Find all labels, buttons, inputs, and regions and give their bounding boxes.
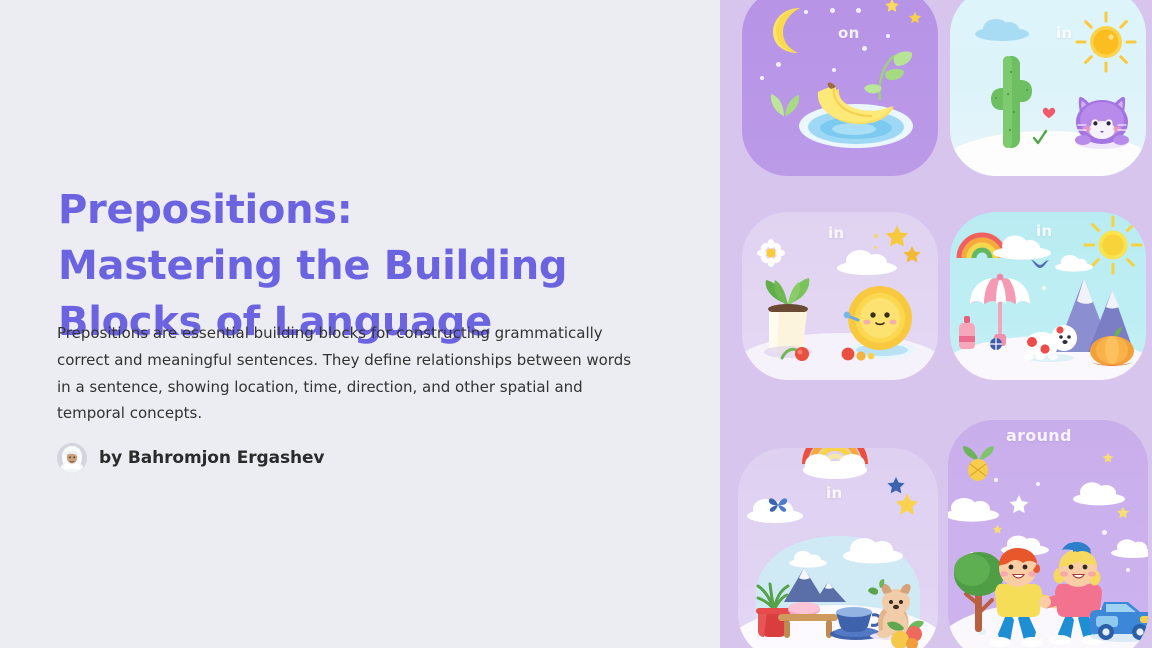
illustration-card-on-night[interactable]: on bbox=[742, 0, 938, 176]
author-name: by Bahromjon Ergashev bbox=[99, 448, 324, 468]
cloud-icon bbox=[836, 248, 898, 276]
star-icon bbox=[1116, 506, 1130, 520]
cloud-icon bbox=[1054, 254, 1094, 272]
preposition-word: around bbox=[1006, 426, 1072, 445]
cat-icon bbox=[1068, 84, 1136, 150]
sparkle-icon bbox=[776, 62, 781, 67]
avatar bbox=[57, 443, 87, 473]
author-byline: by Bahromjon Ergashev bbox=[57, 443, 324, 473]
ball-icon bbox=[990, 338, 1002, 350]
illustration-card-in-beach[interactable]: in bbox=[950, 212, 1146, 380]
illustration-card-in-desert[interactable]: in bbox=[950, 0, 1146, 176]
slide-root: Prepositions: Mastering the Building Blo… bbox=[0, 0, 1152, 648]
title-line-2: Mastering the Building bbox=[58, 238, 688, 294]
sparkle-icon bbox=[832, 68, 836, 72]
sparkle-icon bbox=[804, 10, 808, 14]
sparkle-icon bbox=[874, 234, 878, 238]
sparkle-icon bbox=[856, 8, 861, 13]
pineapple-icon bbox=[962, 444, 996, 482]
bird-icon bbox=[1030, 258, 1050, 269]
star-icon bbox=[1008, 494, 1030, 516]
star-icon bbox=[908, 11, 922, 25]
illustration-card-around[interactable]: around bbox=[948, 420, 1148, 648]
body-paragraph: Prepositions are essential building bloc… bbox=[57, 320, 647, 427]
sparkle-icon bbox=[1042, 286, 1046, 290]
cloud-icon bbox=[948, 496, 1000, 522]
sparkle-icon bbox=[1102, 530, 1107, 535]
sparkle-icon bbox=[886, 34, 890, 38]
sparkle-icon bbox=[830, 8, 835, 13]
check-icon bbox=[1032, 130, 1048, 146]
berry-icon bbox=[840, 344, 880, 362]
sparkle-icon bbox=[1126, 568, 1130, 572]
cloud-icon bbox=[974, 16, 1030, 42]
pumpkin-icon bbox=[1088, 324, 1136, 368]
toy-car-icon bbox=[1088, 588, 1148, 642]
heart-icon bbox=[1042, 106, 1056, 119]
star-icon bbox=[902, 245, 922, 265]
banana-icon bbox=[812, 80, 898, 128]
text-panel: Prepositions: Mastering the Building Blo… bbox=[0, 0, 720, 648]
star-icon bbox=[884, 0, 900, 14]
preposition-word: in bbox=[828, 224, 844, 242]
cloud-icon bbox=[1072, 480, 1126, 506]
bottle-icon bbox=[958, 316, 976, 350]
sparkle-icon bbox=[760, 76, 764, 80]
fruit-icon bbox=[884, 616, 928, 648]
dog-icon bbox=[1022, 320, 1078, 362]
flower-icon bbox=[758, 240, 784, 266]
star-icon bbox=[894, 492, 920, 518]
preposition-word: in bbox=[1036, 222, 1052, 240]
preposition-word: in bbox=[826, 484, 842, 502]
sparkle-icon bbox=[1036, 482, 1040, 486]
illustration-card-in-plant[interactable]: in bbox=[742, 212, 938, 380]
sparkle-icon bbox=[994, 478, 998, 482]
preposition-word: in bbox=[1056, 24, 1072, 42]
preposition-word: on bbox=[838, 24, 860, 42]
illustration-panel: on bbox=[720, 0, 1152, 648]
butterfly-icon bbox=[768, 496, 788, 514]
illustration-card-in-room[interactable]: in bbox=[738, 448, 938, 648]
title-line-1: Prepositions: bbox=[58, 182, 688, 238]
rainbow-cloud-icon bbox=[796, 448, 874, 480]
cloud-icon bbox=[842, 536, 904, 564]
sun-icon bbox=[1074, 10, 1138, 74]
berry-icon bbox=[780, 342, 814, 362]
leaf-icon bbox=[768, 84, 802, 118]
star-icon bbox=[1102, 452, 1114, 464]
